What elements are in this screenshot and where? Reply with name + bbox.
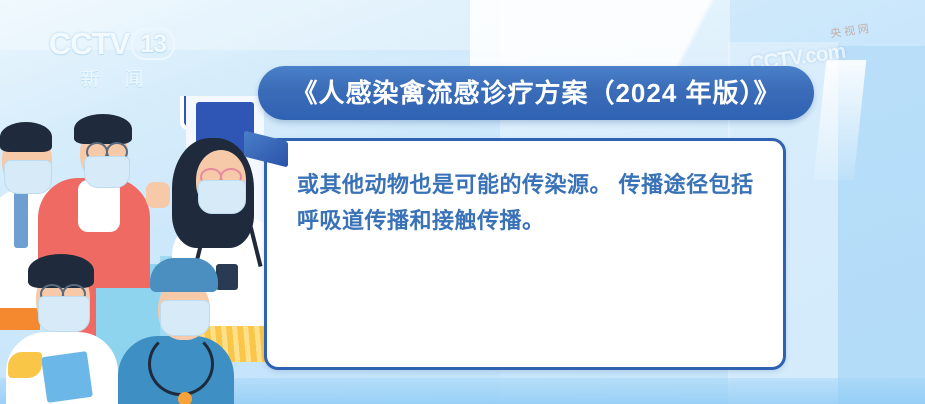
stethoscope-icon: [148, 332, 214, 396]
page-title: 《人感染禽流感诊疗方案（2024 年版）》: [291, 80, 780, 106]
broadcast-screen: CCTV13 新 闻 央视网 CCTV.com 《人感染禽流感诊疗方案（2024…: [0, 0, 925, 404]
person-hair: [0, 122, 52, 152]
id-badge: [216, 264, 238, 290]
person-tie: [14, 190, 28, 248]
cctv13-channel-logo: CCTV13 新 闻: [42, 28, 182, 91]
cctv-channel-number: 13: [131, 28, 175, 60]
content-card: 或其他动物也是可能的传染源。 传播途径包括呼吸道传播和接触传播。: [264, 138, 786, 370]
person-fist: [146, 182, 170, 208]
face-mask-icon: [160, 300, 210, 336]
face-mask-icon: [84, 156, 130, 188]
face-mask-icon: [38, 296, 90, 332]
clipboard-icon: [41, 351, 93, 403]
cctv-wordmark: CCTV: [49, 26, 129, 61]
face-mask-icon: [4, 160, 52, 194]
person-hair: [28, 254, 94, 288]
face-mask-icon: [198, 180, 246, 214]
stethoscope-chestpiece: [178, 392, 192, 404]
surgical-cap-icon: [150, 258, 218, 292]
card-body-text: 或其他动物也是可能的传染源。 传播途径包括呼吸道传播和接触传播。: [297, 167, 757, 238]
person-hair: [74, 114, 132, 144]
glove-icon: [8, 352, 42, 378]
title-banner: 《人感染禽流感诊疗方案（2024 年版）》: [258, 66, 814, 120]
cctv-channel-subtitle: 新 闻: [42, 64, 182, 91]
